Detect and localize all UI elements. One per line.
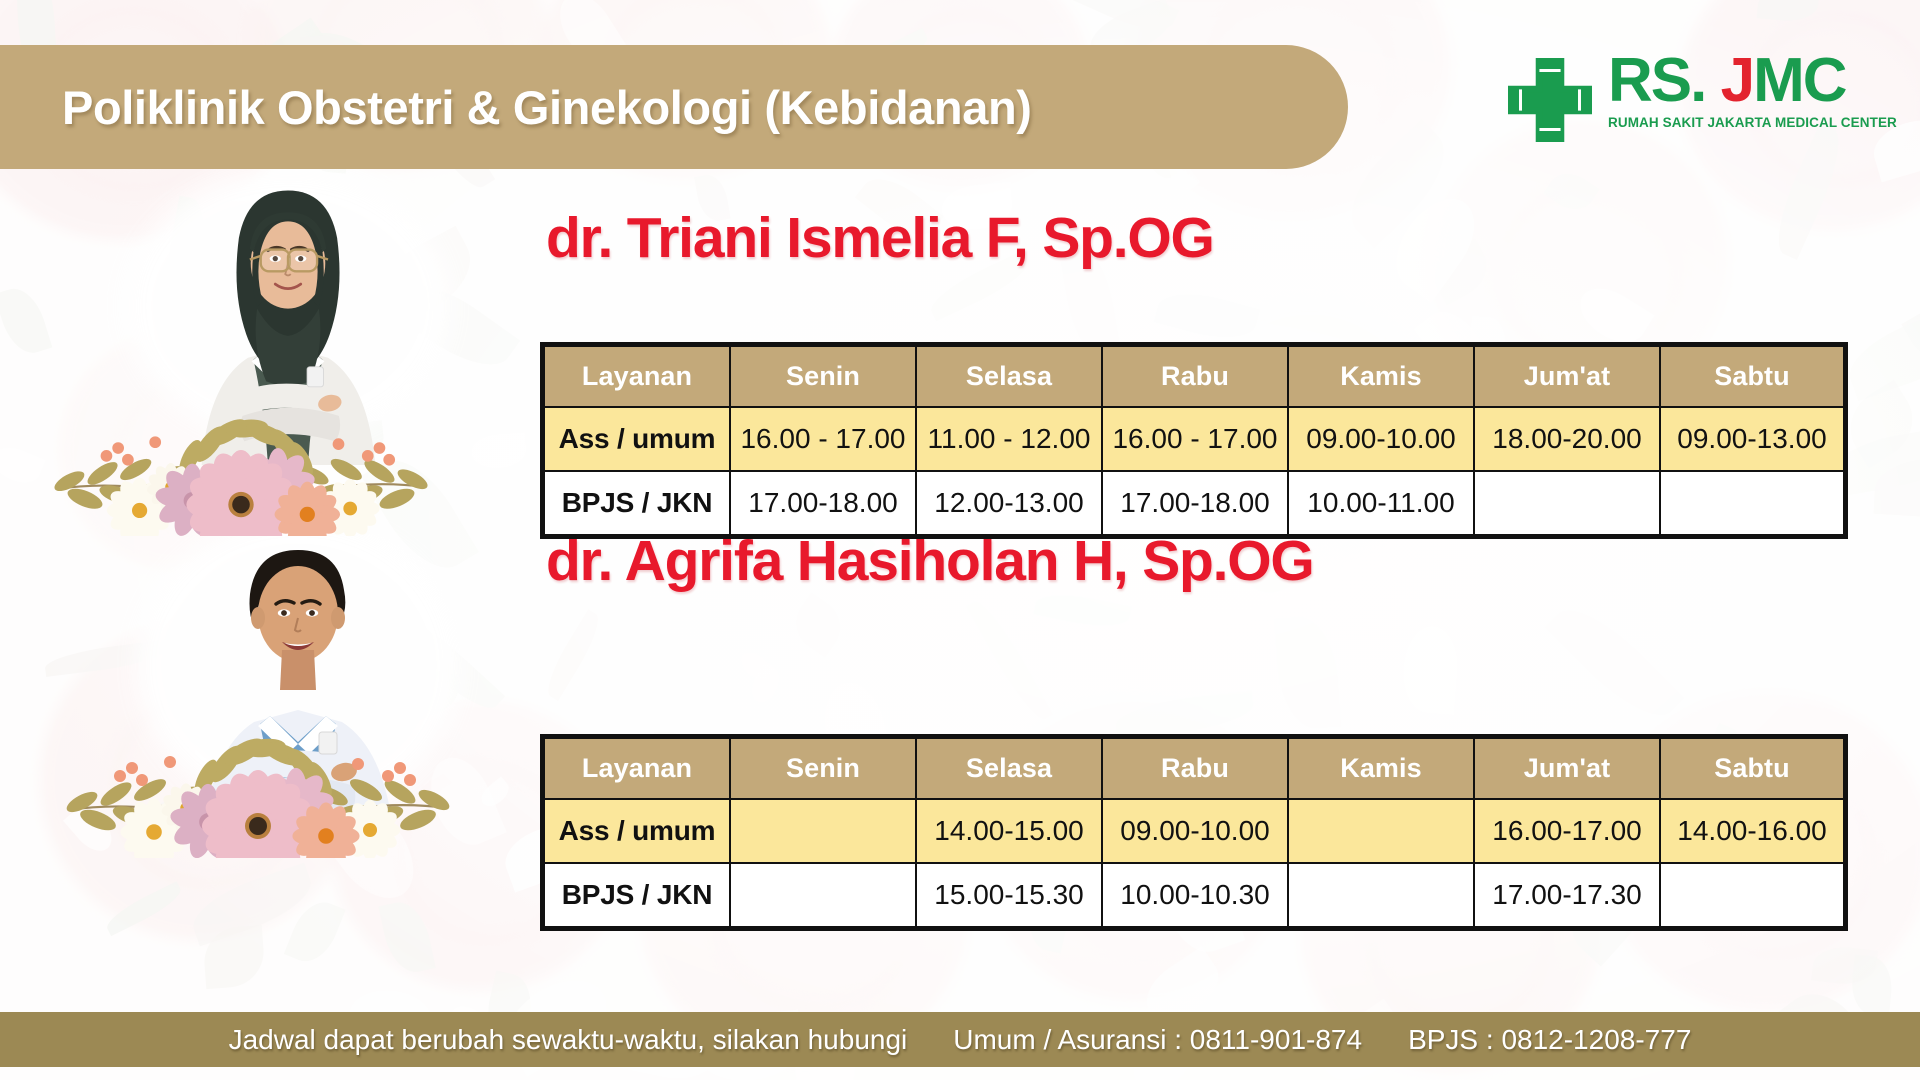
- floral-decoration: [58, 690, 458, 858]
- logo-tagline: RUMAH SAKIT JAKARTA MEDICAL CENTER: [1608, 115, 1897, 130]
- schedule-cell: 09.00-10.00: [1102, 799, 1288, 863]
- logo-wordmark: RS. JMC: [1608, 52, 1897, 111]
- schedule-table-1: LayananSeninSelasaRabuKamisJum'atSabtu A…: [543, 345, 1845, 536]
- schedule-cell: 09.00-10.00: [1288, 407, 1474, 471]
- schedule-cell: 10.00-10.30: [1102, 863, 1288, 927]
- schedule-cell: [1660, 471, 1844, 535]
- schedule-cell: 12.00-13.00: [916, 471, 1102, 535]
- footer-note: Jadwal dapat berubah sewaktu-waktu, sila…: [229, 1024, 908, 1056]
- schedule-cell: 17.00-17.30: [1474, 863, 1660, 927]
- schedule-cell: [730, 863, 916, 927]
- footer-phone-bpjs: BPJS : 0812-1208-777: [1408, 1024, 1691, 1056]
- schedule-cell: [1474, 471, 1660, 535]
- table-header-row: LayananSeninSelasaRabuKamisJum'atSabtu: [544, 346, 1844, 407]
- footer-phone-umum: Umum / Asuransi : 0811-901-874: [953, 1024, 1362, 1056]
- service-label: Ass / umum: [544, 799, 730, 863]
- schedule-cell: [1288, 799, 1474, 863]
- schedule-table-2: LayananSeninSelasaRabuKamisJum'atSabtu A…: [543, 737, 1845, 928]
- page-title: Poliklinik Obstetri & Ginekologi (Kebida…: [62, 80, 1032, 135]
- table-row: BPJS / JKN17.00-18.0012.00-13.0017.00-18…: [544, 471, 1844, 535]
- schedule-cell: [730, 799, 916, 863]
- column-header-senin: Senin: [730, 738, 916, 799]
- table-row: Ass / umum16.00 - 17.0011.00 - 12.0016.0…: [544, 407, 1844, 471]
- logo-j-text: J: [1721, 46, 1753, 115]
- schedule-cell: 16.00 - 17.00: [730, 407, 916, 471]
- doctor-name-2: dr. Agrifa Hasiholan H, Sp.OG: [546, 528, 1314, 594]
- service-label: Ass / umum: [544, 407, 730, 471]
- schedule-cell: 15.00-15.30: [916, 863, 1102, 927]
- column-header-layanan: Layanan: [544, 346, 730, 407]
- hospital-logo: RS. JMC RUMAH SAKIT JAKARTA MEDICAL CENT…: [1508, 52, 1897, 142]
- schedule-cell: 18.00-20.00: [1474, 407, 1660, 471]
- service-label: BPJS / JKN: [544, 471, 730, 535]
- schedule-cell: 10.00-11.00: [1288, 471, 1474, 535]
- column-header-rabu: Rabu: [1102, 738, 1288, 799]
- schedule-cell: 17.00-18.00: [1102, 471, 1288, 535]
- schedule-cell: 16.00-17.00: [1474, 799, 1660, 863]
- column-header-jumat: Jum'at: [1474, 346, 1660, 407]
- table-row: BPJS / JKN15.00-15.3010.00-10.3017.00-17…: [544, 863, 1844, 927]
- column-header-selasa: Selasa: [916, 346, 1102, 407]
- column-header-jumat: Jum'at: [1474, 738, 1660, 799]
- schedule-cell: [1288, 863, 1474, 927]
- table-header-row: LayananSeninSelasaRabuKamisJum'atSabtu: [544, 738, 1844, 799]
- column-header-selasa: Selasa: [916, 738, 1102, 799]
- column-header-sabtu: Sabtu: [1660, 738, 1844, 799]
- schedule-cell: 14.00-15.00: [916, 799, 1102, 863]
- column-header-sabtu: Sabtu: [1660, 346, 1844, 407]
- column-header-kamis: Kamis: [1288, 738, 1474, 799]
- table-row: Ass / umum14.00-15.0009.00-10.0016.00-17…: [544, 799, 1844, 863]
- schedule-cell: 14.00-16.00: [1660, 799, 1844, 863]
- schedule-cell: 17.00-18.00: [730, 471, 916, 535]
- column-header-kamis: Kamis: [1288, 346, 1474, 407]
- schedule-cell: 09.00-13.00: [1660, 407, 1844, 471]
- service-label: BPJS / JKN: [544, 863, 730, 927]
- column-header-rabu: Rabu: [1102, 346, 1288, 407]
- medical-cross-icon: [1508, 58, 1592, 142]
- footer-bar: Jadwal dapat berubah sewaktu-waktu, sila…: [0, 1012, 1920, 1067]
- header-bar: Poliklinik Obstetri & Ginekologi (Kebida…: [0, 45, 1348, 169]
- logo-mc-text: MC: [1753, 46, 1845, 115]
- schedule-cell: 16.00 - 17.00: [1102, 407, 1288, 471]
- floral-decoration: [46, 372, 436, 536]
- column-header-layanan: Layanan: [544, 738, 730, 799]
- column-header-senin: Senin: [730, 346, 916, 407]
- schedule-cell: 11.00 - 12.00: [916, 407, 1102, 471]
- doctor-name-1: dr. Triani Ismelia F, Sp.OG: [546, 205, 1214, 271]
- logo-rs-text: RS.: [1608, 46, 1705, 115]
- schedule-cell: [1660, 863, 1844, 927]
